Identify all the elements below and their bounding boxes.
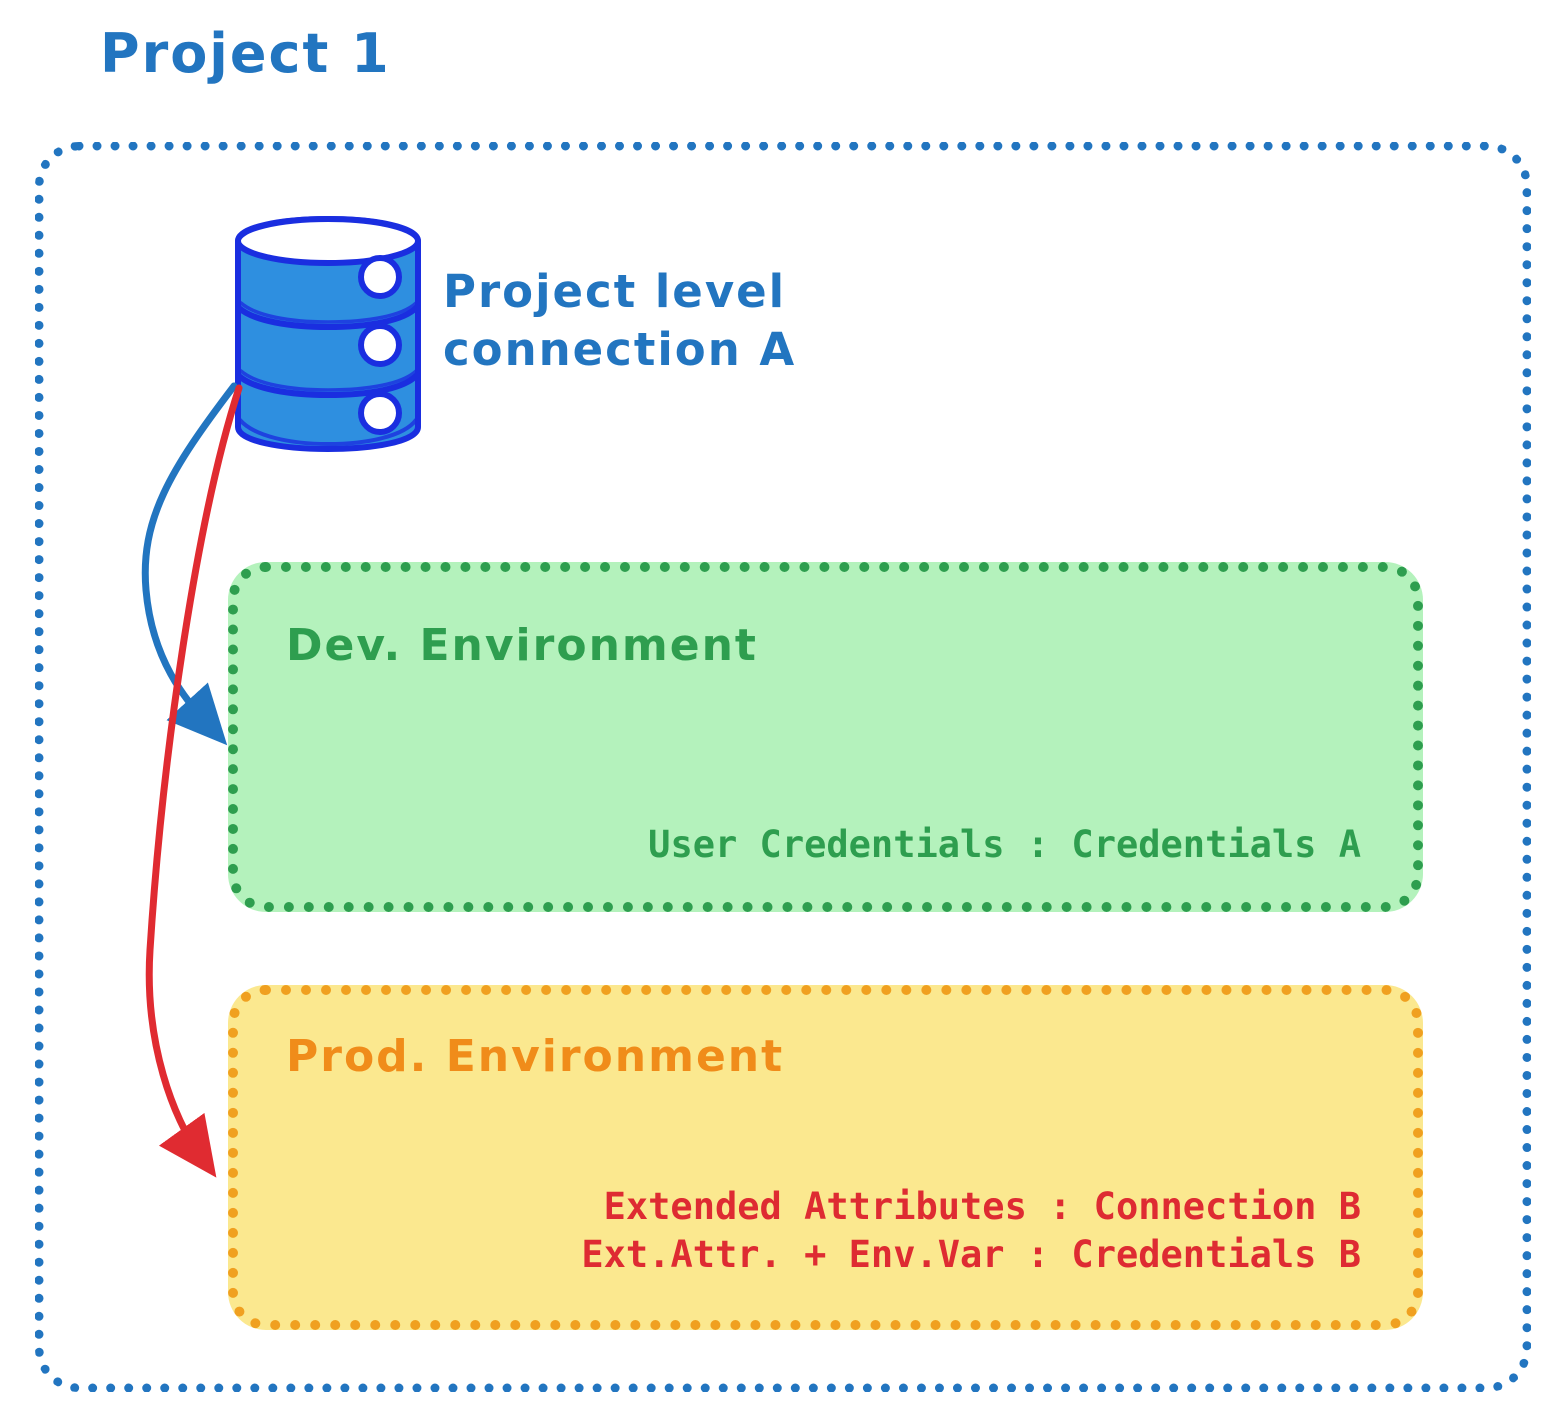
db-label-line2: connection A [443,323,796,376]
dev-environment-box[interactable]: Dev. Environment User Credentials : Cred… [228,562,1423,912]
database-cylinder-icon [228,215,428,455]
page-title: Project 1 [100,22,391,85]
prod-environment-details: Extended Attributes : Connection B Ext.A… [581,1183,1361,1278]
database-node[interactable] [228,215,428,455]
database-node-label: Project level connection A [443,263,796,378]
diagram-canvas: Project 1 Dev. Environment User Credenti… [0,0,1553,1415]
prod-environment-box[interactable]: Prod. Environment Extended Attributes : … [228,985,1423,1330]
db-label-line1: Project level [443,265,786,318]
dev-environment-title: Dev. Environment [286,620,758,671]
dev-environment-details: User Credentials : Credentials A [648,821,1361,868]
prod-environment-title: Prod. Environment [286,1031,784,1082]
